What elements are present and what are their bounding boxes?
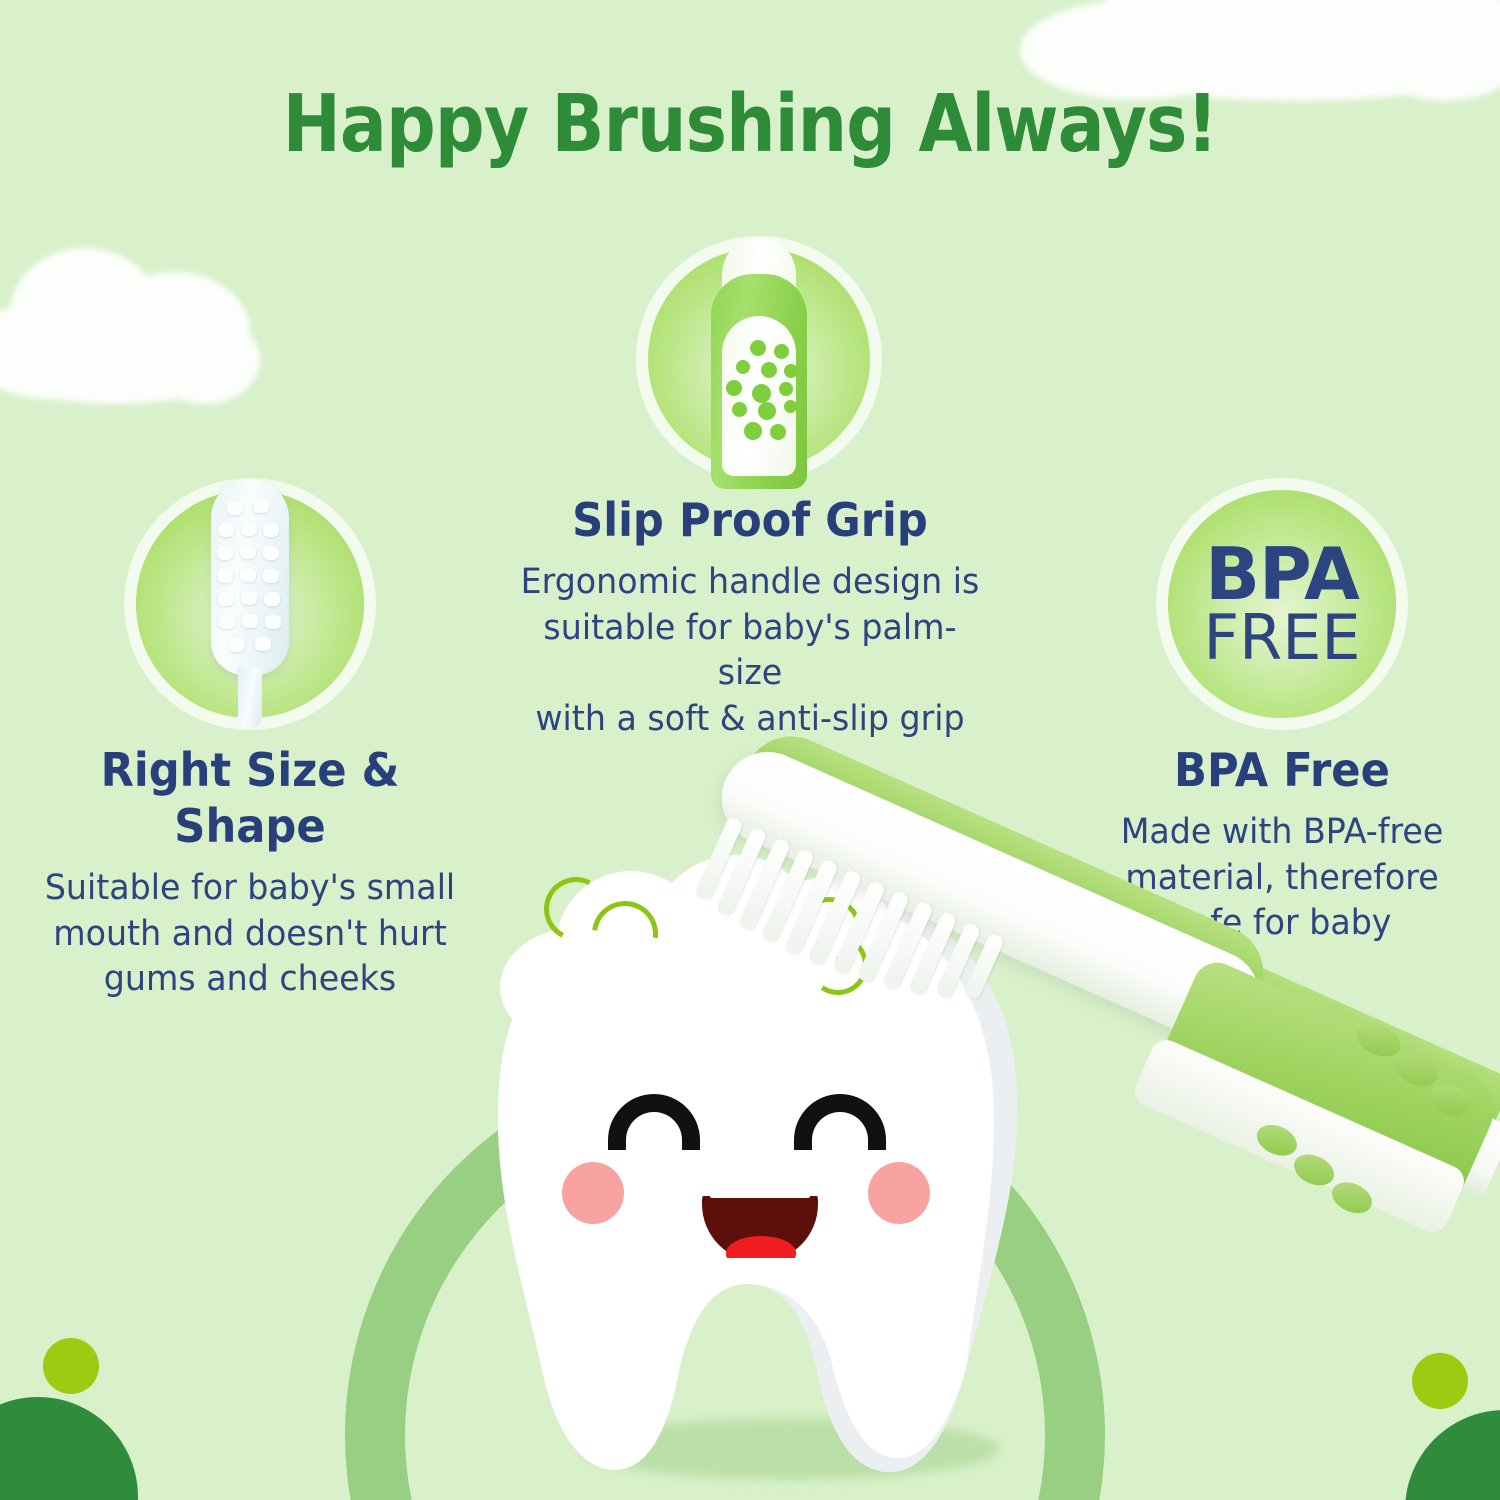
corner-dot-dark-left xyxy=(0,1397,138,1500)
bpa-badge-sub: FREE xyxy=(1203,609,1360,667)
feature-body-line: gums and cheeks xyxy=(32,957,469,1003)
corner-dot-lime-right xyxy=(1412,1353,1468,1409)
brush-head-illustration xyxy=(205,479,295,729)
page-title: Happy Brushing Always! xyxy=(90,78,1410,170)
corner-dot-lime-left xyxy=(43,1338,99,1394)
corner-dot-dark-right xyxy=(1405,1410,1500,1500)
feature-body-line: mouth and doesn't hurt xyxy=(32,912,469,958)
brush-head-icon xyxy=(136,490,364,718)
cloud-top-left xyxy=(0,230,290,410)
infographic-canvas: Happy Brushing Always! Slip Proof Grip E… xyxy=(0,0,1500,1500)
feature-body-line: suitable for baby's palm-size xyxy=(513,606,988,697)
bpa-free-badge-icon: BPA FREE xyxy=(1168,490,1396,718)
feature-body-line: Suitable for baby's small xyxy=(32,866,469,912)
feature-body-right-size-shape: Suitable for baby's small mouth and does… xyxy=(32,866,469,1003)
feature-body-line: Ergonomic handle design is xyxy=(513,560,988,606)
feature-title-right-size-shape: Right Size & Shape xyxy=(34,742,466,854)
grip-illustration xyxy=(664,244,854,474)
handle-grip-icon xyxy=(648,248,870,470)
bpa-badge-main: BPA xyxy=(1203,541,1360,609)
feature-title-line: Right Size & xyxy=(34,742,466,798)
cheek-left xyxy=(562,1162,624,1224)
bpa-badge-text: BPA FREE xyxy=(1203,541,1360,667)
feature-title-slip-proof-grip: Slip Proof Grip xyxy=(515,492,985,548)
feature-title-line: Shape xyxy=(34,798,466,854)
